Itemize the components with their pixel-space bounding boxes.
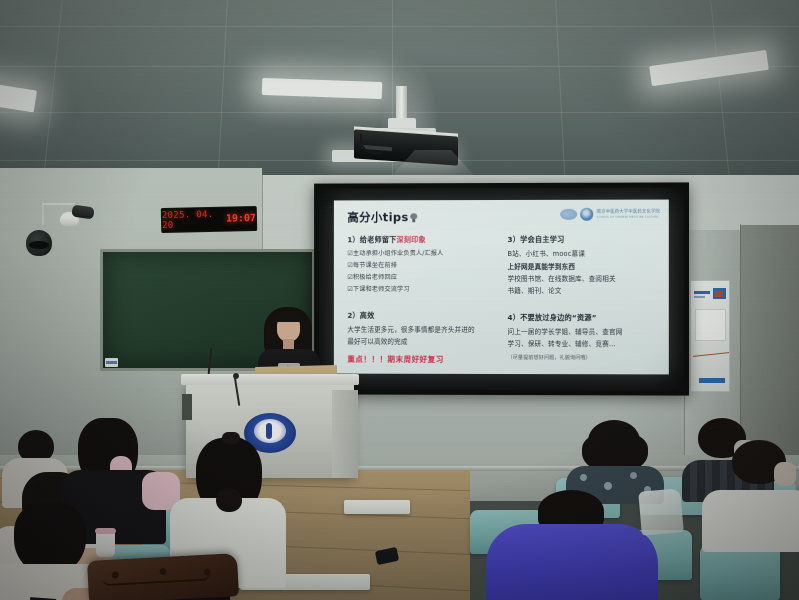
camera-bracket-stem <box>42 203 44 225</box>
slide-item: 问上一届的学长学姐、辅导员、查官网 <box>507 328 657 336</box>
student-desk <box>344 500 410 514</box>
ceiling-light-left <box>0 74 37 113</box>
slide-item: ☑每节课坐在前排 <box>347 262 495 270</box>
slide-section-heading-3: 3）学会自主学习 <box>507 235 657 245</box>
slide-item: 书籍、期刊、论文 <box>507 287 657 295</box>
leather-bag <box>87 553 239 600</box>
slide-logo-org-name-en: SCHOOL OF CHINESE MEDICINE CULTURE <box>597 215 660 219</box>
led-clock-display: 2025. 04. 20 19:07 <box>161 206 258 233</box>
student-head <box>216 488 242 512</box>
ceiling-projector <box>352 86 462 158</box>
plastic-bag <box>638 488 684 535</box>
led-time: 19:07 <box>226 213 256 225</box>
slide-column-right: 3）学会自主学习 B站、小红书、mooc慕课 上好网是真能学到东西 学校图书馆、… <box>507 235 657 365</box>
classroom-scene: 2025. 04. 20 19:07 南京中医药大学中医药文化学院 SCHOOL… <box>0 0 799 600</box>
slide-note: （尽量提前想好问题，礼貌询问哦） <box>507 354 657 361</box>
right-wall-far <box>740 225 799 475</box>
presentation-slide: 南京中医药大学中医药文化学院 SCHOOL OF CHINESE MEDICIN… <box>333 200 669 375</box>
camera-bracket-arm <box>42 203 74 205</box>
wall-notice-poster <box>690 280 730 392</box>
projection-screen: 南京中医药大学中医药文化学院 SCHOOL OF CHINESE MEDICIN… <box>314 182 689 395</box>
slide-title-text: 高分小tips <box>347 209 408 225</box>
slide-section-heading-4: 4）不要放过身边的“资源” <box>507 313 657 323</box>
cloud-logo-icon <box>561 209 578 220</box>
slide-section-heading-1: 1）给老师留下深刻印象 <box>347 235 495 245</box>
slide-item: ☑主动承担小组作业负责人/汇报人 <box>347 250 495 258</box>
slide-item: B站、小红书、mooc慕课 <box>507 250 657 258</box>
ceiling-light-right <box>649 50 769 86</box>
ring-logo-icon <box>581 208 594 221</box>
slide-item: 学校图书馆、在线数据库、查阅相关 <box>507 275 657 283</box>
slide-item: ☑积极给老师回应 <box>347 274 495 282</box>
podium-side-panel <box>332 390 358 478</box>
slide-emphasis-text: 重点！！！期末周好好复习 <box>347 353 495 364</box>
slide-column-left: 1）给老师留下深刻印象 ☑主动承担小组作业负责人/汇报人 ☑每节课坐在前排 ☑积… <box>347 235 495 364</box>
drink-cup <box>96 531 115 557</box>
slide-item: 大学生活更多元，很多事情都是齐头并进的 <box>347 326 495 334</box>
slide-logo-group: 南京中医药大学中医药文化学院 SCHOOL OF CHINESE MEDICIN… <box>561 208 661 221</box>
slide-item: 最好可以高效的完成 <box>347 338 495 346</box>
slide-item: ☑下课和老师交流学习 <box>347 286 495 294</box>
projector-pole <box>396 86 407 120</box>
student-torso <box>702 490 799 552</box>
slide-item: 学习、保研、转专业、辅修、竞赛… <box>507 340 657 349</box>
slide-section-heading-2: 2）高效 <box>347 311 495 321</box>
student-head <box>22 506 78 558</box>
wall-speaker-icon <box>26 230 52 256</box>
student-torso <box>486 524 658 600</box>
chalkboard-eraser <box>105 358 118 367</box>
classroom-chair <box>700 545 780 600</box>
led-date: 2025. 04. 20 <box>162 209 221 230</box>
lightbulb-icon <box>411 213 418 222</box>
slide-item: 上好网是真能学到东西 <box>507 262 657 270</box>
